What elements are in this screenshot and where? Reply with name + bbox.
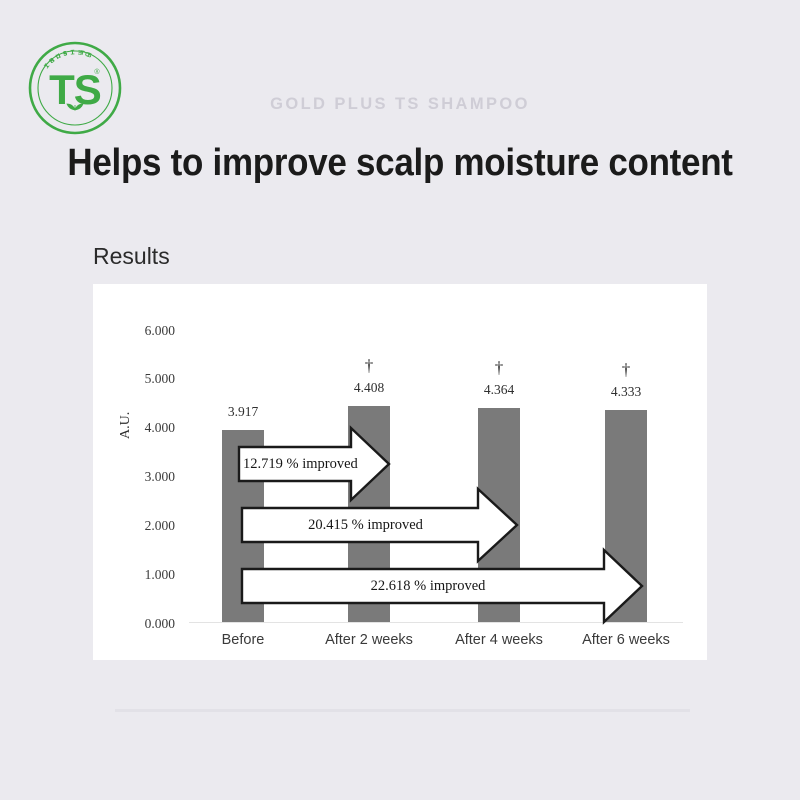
- x-tick-before: Before: [183, 632, 303, 648]
- y-tick-1: 1.000: [113, 567, 175, 583]
- y-tick-2: 2.000: [113, 518, 175, 534]
- x-tick-after-4-weeks: After 4 weeks: [439, 632, 559, 648]
- y-tick-4: 4.000: [113, 420, 175, 436]
- section-divider: [115, 709, 690, 712]
- product-eyebrow: GOLD PLUS TS SHAMPOO: [0, 95, 800, 114]
- y-tick-3: 3.000: [113, 469, 175, 485]
- arrow-label-22: 22.618 % improved: [258, 578, 598, 595]
- arrow-label-20: 20.415 % improved: [253, 517, 478, 534]
- bar-value-after-2-weeks: 4.408: [324, 380, 414, 396]
- svg-text:®: ®: [94, 68, 100, 76]
- x-tick-after-6-weeks: After 6 weeks: [566, 632, 686, 648]
- promo-page: T R U S T T S T R U S T E D TS ® GOLD PL…: [0, 0, 800, 800]
- ts-circular-badge-logo-icon: T R U S T T S T R U S T E D TS ®: [25, 38, 125, 138]
- significance-marker-after-4-weeks: †: [454, 358, 544, 378]
- results-label: Results: [93, 243, 170, 270]
- bar-after-6-weeks: [605, 410, 647, 622]
- significance-marker-after-6-weeks: †: [581, 360, 671, 380]
- svg-text:E: E: [78, 48, 83, 56]
- y-tick-6: 6.000: [113, 323, 175, 339]
- x-tick-after-2-weeks: After 2 weeks: [309, 632, 429, 648]
- bar-value-after-6-weeks: 4.333: [581, 384, 671, 400]
- y-tick-5: 5.000: [113, 371, 175, 387]
- svg-text:T: T: [70, 48, 74, 55]
- significance-marker-after-2-weeks: †: [324, 356, 414, 376]
- results-chart-card: A.U. 6.000 5.000 4.000 3.000 2.000 1.000…: [93, 284, 707, 660]
- ts-logo: T R U S T T S T R U S T E D TS ®: [25, 38, 125, 138]
- x-axis-baseline: [189, 622, 683, 623]
- bar-value-after-4-weeks: 4.364: [454, 382, 544, 398]
- bar-value-before: 3.917: [198, 404, 288, 420]
- chart-plot-area: A.U. 6.000 5.000 4.000 3.000 2.000 1.000…: [93, 284, 707, 660]
- arrow-label-12: 12.719 % improved: [243, 456, 353, 473]
- y-tick-0: 0.000: [113, 616, 175, 632]
- page-title: Helps to improve scalp moisture content: [32, 139, 768, 187]
